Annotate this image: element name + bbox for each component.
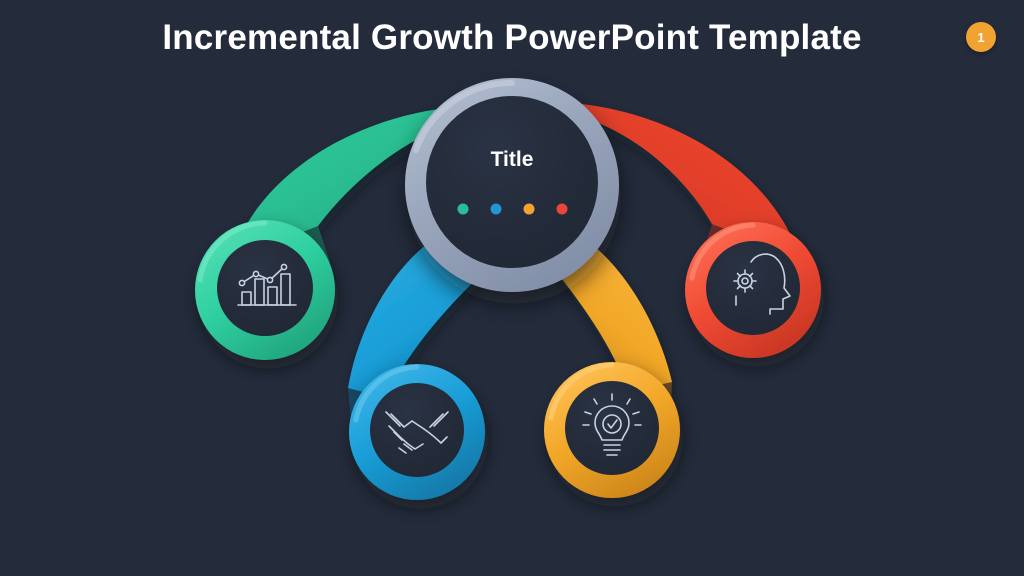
slide-canvas: Incremental Growth PowerPoint Template 1 [0, 0, 1024, 576]
infographic-diagram [0, 0, 1024, 576]
dot-teal [458, 204, 469, 215]
node-innovation[interactable] [544, 362, 680, 498]
dot-orange [524, 204, 535, 215]
node-growth-analytics[interactable] [195, 220, 335, 360]
node-blue-inner[interactable] [370, 383, 464, 477]
center-hub[interactable] [405, 78, 619, 292]
dot-red [557, 204, 568, 215]
node-strategy-thinking[interactable] [685, 222, 821, 358]
node-green-inner[interactable] [217, 240, 313, 336]
node-partnership[interactable] [349, 364, 485, 500]
center-hub-inner[interactable] [426, 96, 598, 268]
dot-blue [491, 204, 502, 215]
